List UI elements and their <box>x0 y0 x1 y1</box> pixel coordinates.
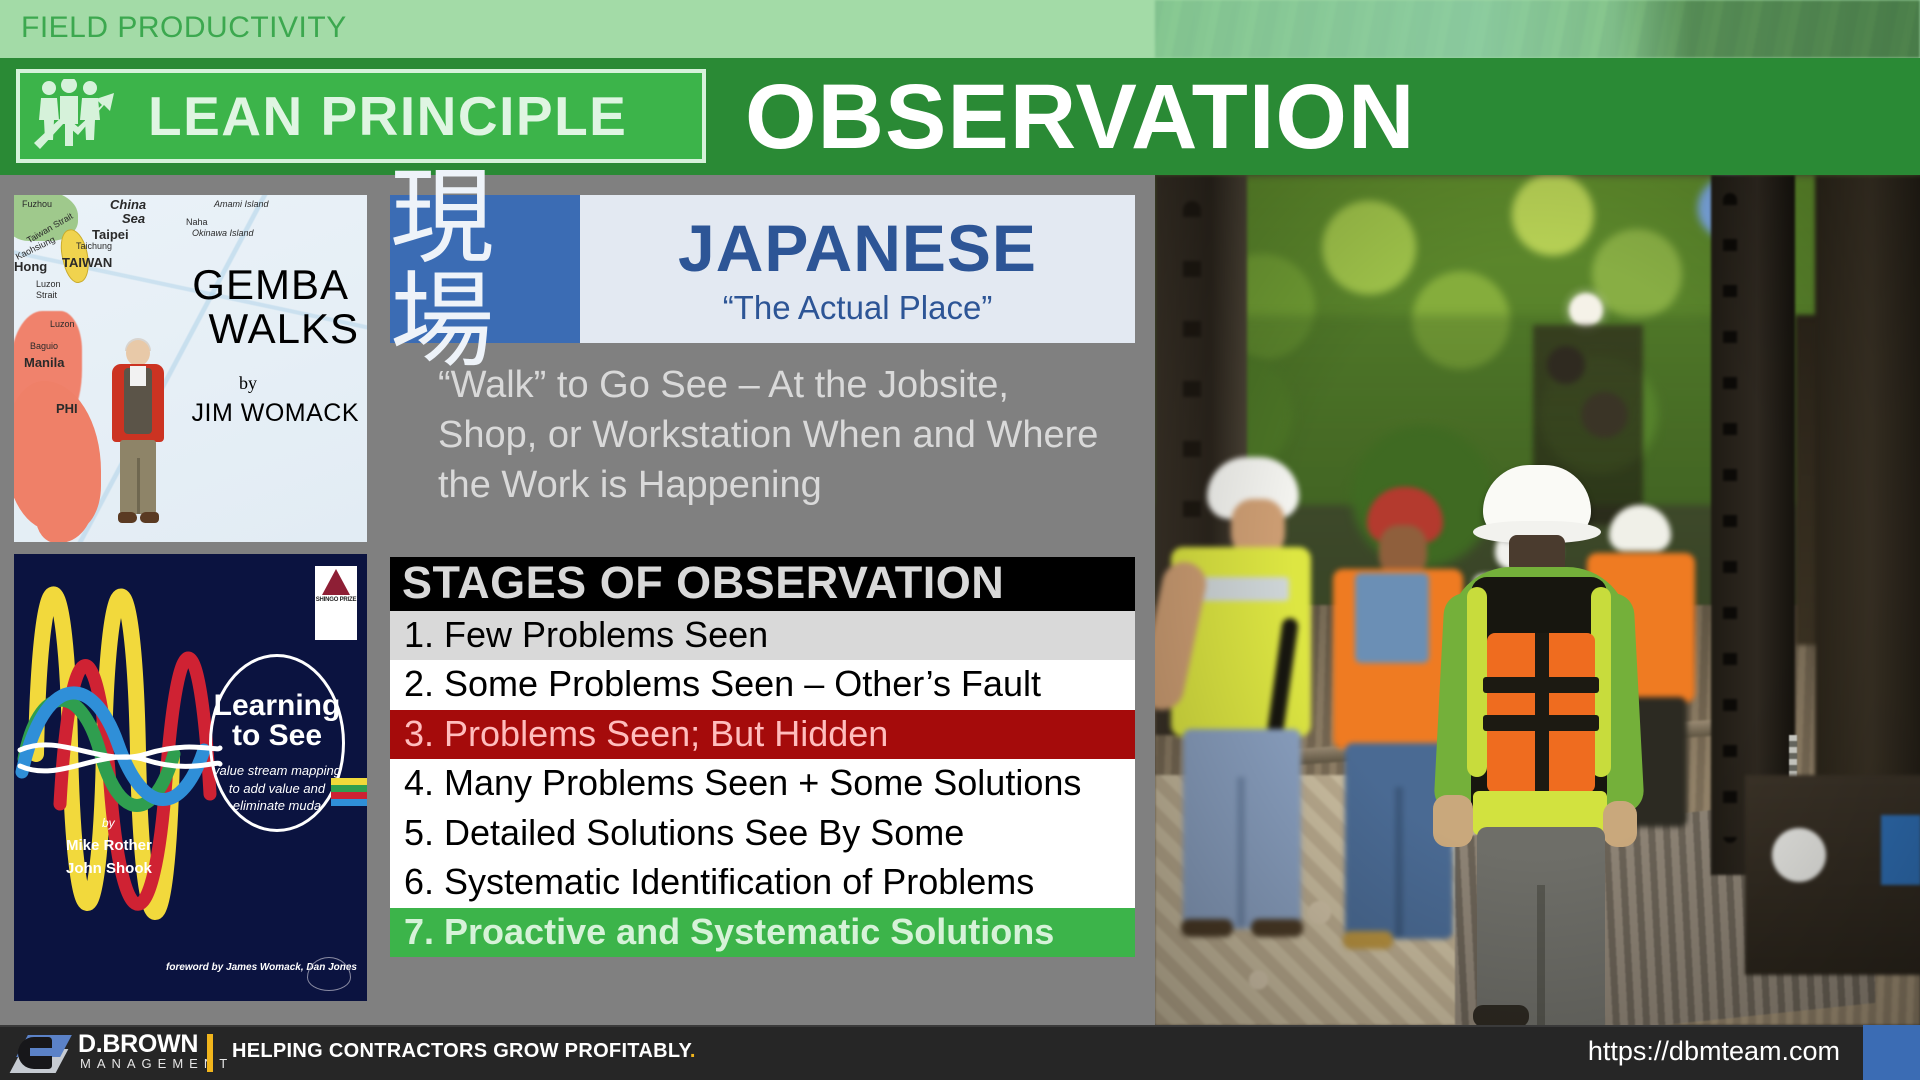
map-label: Taipei <box>92 227 129 242</box>
book-by-label: by <box>102 816 115 830</box>
top-strip-photo-overlay <box>1155 0 1920 58</box>
slide-footer: D.BROWN MANAGEMENT HELPING CONTRACTORS G… <box>0 1025 1920 1080</box>
slide-header: LEAN PRINCIPLE OBSERVATION <box>0 58 1920 175</box>
book-by-label: by <box>239 373 257 394</box>
people-growth-chart-icon <box>30 79 142 153</box>
prize-label: SHINGO PRIZE <box>316 597 357 604</box>
footer-accent-bar <box>207 1034 213 1072</box>
stage-row[interactable]: 6. Systematic Identification of Problems <box>390 858 1135 907</box>
prize-emblem-icon <box>322 569 350 595</box>
kanji-gemba: 現場 <box>390 195 580 343</box>
footer-divider <box>0 1025 1920 1027</box>
author-photo <box>106 340 170 530</box>
stage-row[interactable]: 4. Many Problems Seen + Some Solutions <box>390 759 1135 808</box>
map-label: Naha <box>186 217 208 227</box>
brand-name: D.BROWN <box>78 1032 198 1057</box>
map-label: Sea <box>122 211 145 226</box>
color-bars-decoration <box>331 778 367 806</box>
map-label: Baguio <box>30 341 58 351</box>
eyebrow-label: FIELD PRODUCTIVITY <box>21 11 347 45</box>
center-column: 現場 JAPANESE “The Actual Place” “Walk” to… <box>390 175 1135 1025</box>
book-author-1: Mike Rother <box>66 837 152 854</box>
stage-row[interactable]: 5. Detailed Solutions See By Some <box>390 809 1135 858</box>
book-title-line1: Learning <box>213 691 341 721</box>
map-label: China <box>110 197 146 212</box>
japanese-translation: “The Actual Place” <box>723 291 993 324</box>
footer-url[interactable]: https://dbmteam.com <box>1588 1038 1840 1065</box>
railway-construction-photo <box>1155 175 1920 1025</box>
map-label: Strait <box>36 290 57 300</box>
japanese-text-block: JAPANESE “The Actual Place” <box>580 195 1135 343</box>
top-eyebrow-strip: FIELD PRODUCTIVITY <box>0 0 1920 58</box>
book-cover-learning-to-see: Learning to See value stream mapping to … <box>14 554 367 1001</box>
japanese-label: JAPANESE <box>678 215 1037 281</box>
map-label: TAIWAN <box>62 255 112 270</box>
slide-root: FIELD PRODUCTIVITY LEAN PRINCIPLE OBSERV… <box>0 0 1920 1080</box>
photo-vignette <box>1155 175 1920 1025</box>
stage-row[interactable]: 3. Problems Seen; But Hidden <box>390 710 1135 759</box>
lean-principle-badge: LEAN PRINCIPLE <box>16 69 706 163</box>
book-title-line2: to See <box>213 721 341 751</box>
map-label: Luzon <box>50 319 75 329</box>
book-title-line1: GEMBA <box>192 261 349 309</box>
map-label: Taichung <box>76 241 112 251</box>
footer-tagline-period: . <box>690 1040 696 1062</box>
map-label: PHI <box>56 401 78 416</box>
page-title: OBSERVATION <box>745 71 1415 163</box>
book-cover-gemba-walks: Fuzhou China Sea Taiwan Strait Taipei Ta… <box>14 195 367 542</box>
footer-blue-accent <box>1863 1025 1920 1080</box>
stage-row[interactable]: 2. Some Problems Seen – Other’s Fault <box>390 660 1135 709</box>
book-subtitle: value stream mapping to add value and el… <box>210 762 344 815</box>
map-label: Luzon <box>36 279 61 289</box>
footer-tagline: HELPING CONTRACTORS GROW PROFITABLY. <box>232 1041 696 1061</box>
map-label: Amami Island <box>214 199 269 209</box>
book-author: JIM WOMACK <box>192 399 360 428</box>
japanese-term-panel: 現場 JAPANESE “The Actual Place” <box>390 195 1135 343</box>
stages-of-observation-list: STAGES OF OBSERVATION 1. Few Problems Se… <box>390 557 1135 957</box>
book-title-line2: WALKS <box>209 305 359 353</box>
footer-tagline-text: HELPING CONTRACTORS GROW PROFITABLY <box>232 1040 690 1062</box>
badge-label: LEAN PRINCIPLE <box>148 89 627 144</box>
stage-row[interactable]: 7. Proactive and Systematic Solutions <box>390 908 1135 957</box>
map-label: Fuzhou <box>22 199 52 209</box>
stages-heading: STAGES OF OBSERVATION <box>390 557 1135 611</box>
map-label: Manila <box>24 355 64 370</box>
dbrown-cube-logo-icon <box>14 1029 66 1075</box>
map-label: Okinawa Island <box>192 228 254 238</box>
stage-row[interactable]: 1. Few Problems Seen <box>390 611 1135 660</box>
publisher-mark-icon <box>307 957 351 991</box>
book-author-2: John Shook <box>66 860 152 877</box>
map-label: Hong <box>14 259 47 274</box>
shingo-prize-badge: SHINGO PRIZE <box>315 566 357 640</box>
lead-description: “Walk” to Go See – At the Jobsite, Shop,… <box>438 361 1118 510</box>
